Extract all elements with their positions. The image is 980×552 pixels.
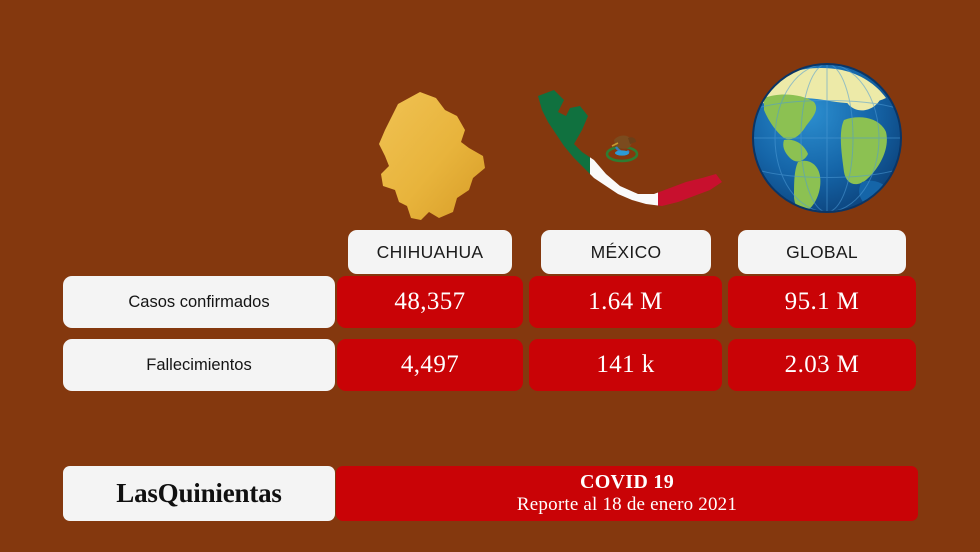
row-label-text: Fallecimientos bbox=[146, 356, 251, 375]
table-row: Fallecimientos 4,497 141 k 2.03 M bbox=[0, 339, 980, 391]
column-header-global: GLOBAL bbox=[738, 230, 906, 274]
value-text: 1.64 M bbox=[588, 288, 663, 316]
globe-icon bbox=[750, 58, 904, 218]
mexico-flag-map-icon bbox=[520, 82, 730, 222]
footer-banner: COVID 19 Reporte al 18 de enero 2021 bbox=[336, 466, 918, 521]
column-header-chihuahua: CHIHUAHUA bbox=[348, 230, 512, 274]
chihuahua-state-map-icon bbox=[373, 86, 491, 226]
column-header-mexico: MÉXICO bbox=[541, 230, 711, 274]
value-text: 2.03 M bbox=[785, 351, 860, 379]
footer-subtitle: Reporte al 18 de enero 2021 bbox=[517, 494, 737, 517]
column-header-label: CHIHUAHUA bbox=[377, 242, 484, 263]
brand-logo: LasQuinientas bbox=[63, 466, 335, 521]
infographic-canvas: CHIHUAHUA MÉXICO GLOBAL Casos confirmado… bbox=[0, 0, 980, 552]
value-casos-global: 95.1 M bbox=[728, 276, 916, 328]
column-header-label: GLOBAL bbox=[786, 242, 858, 263]
footer-title: COVID 19 bbox=[580, 471, 674, 494]
value-fallecimientos-mexico: 141 k bbox=[529, 339, 722, 391]
row-label-fallecimientos: Fallecimientos bbox=[63, 339, 335, 391]
brand-logo-text: LasQuinientas bbox=[116, 478, 281, 509]
value-text: 4,497 bbox=[401, 351, 459, 379]
value-casos-chihuahua: 48,357 bbox=[337, 276, 523, 328]
value-text: 48,357 bbox=[394, 288, 465, 316]
value-fallecimientos-global: 2.03 M bbox=[728, 339, 916, 391]
column-header-label: MÉXICO bbox=[591, 242, 662, 263]
row-label-text: Casos confirmados bbox=[128, 293, 269, 312]
row-label-casos-confirmados: Casos confirmados bbox=[63, 276, 335, 328]
value-text: 95.1 M bbox=[785, 288, 860, 316]
value-text: 141 k bbox=[596, 351, 654, 379]
table-row: Casos confirmados 48,357 1.64 M 95.1 M bbox=[0, 276, 980, 328]
value-casos-mexico: 1.64 M bbox=[529, 276, 722, 328]
value-fallecimientos-chihuahua: 4,497 bbox=[337, 339, 523, 391]
